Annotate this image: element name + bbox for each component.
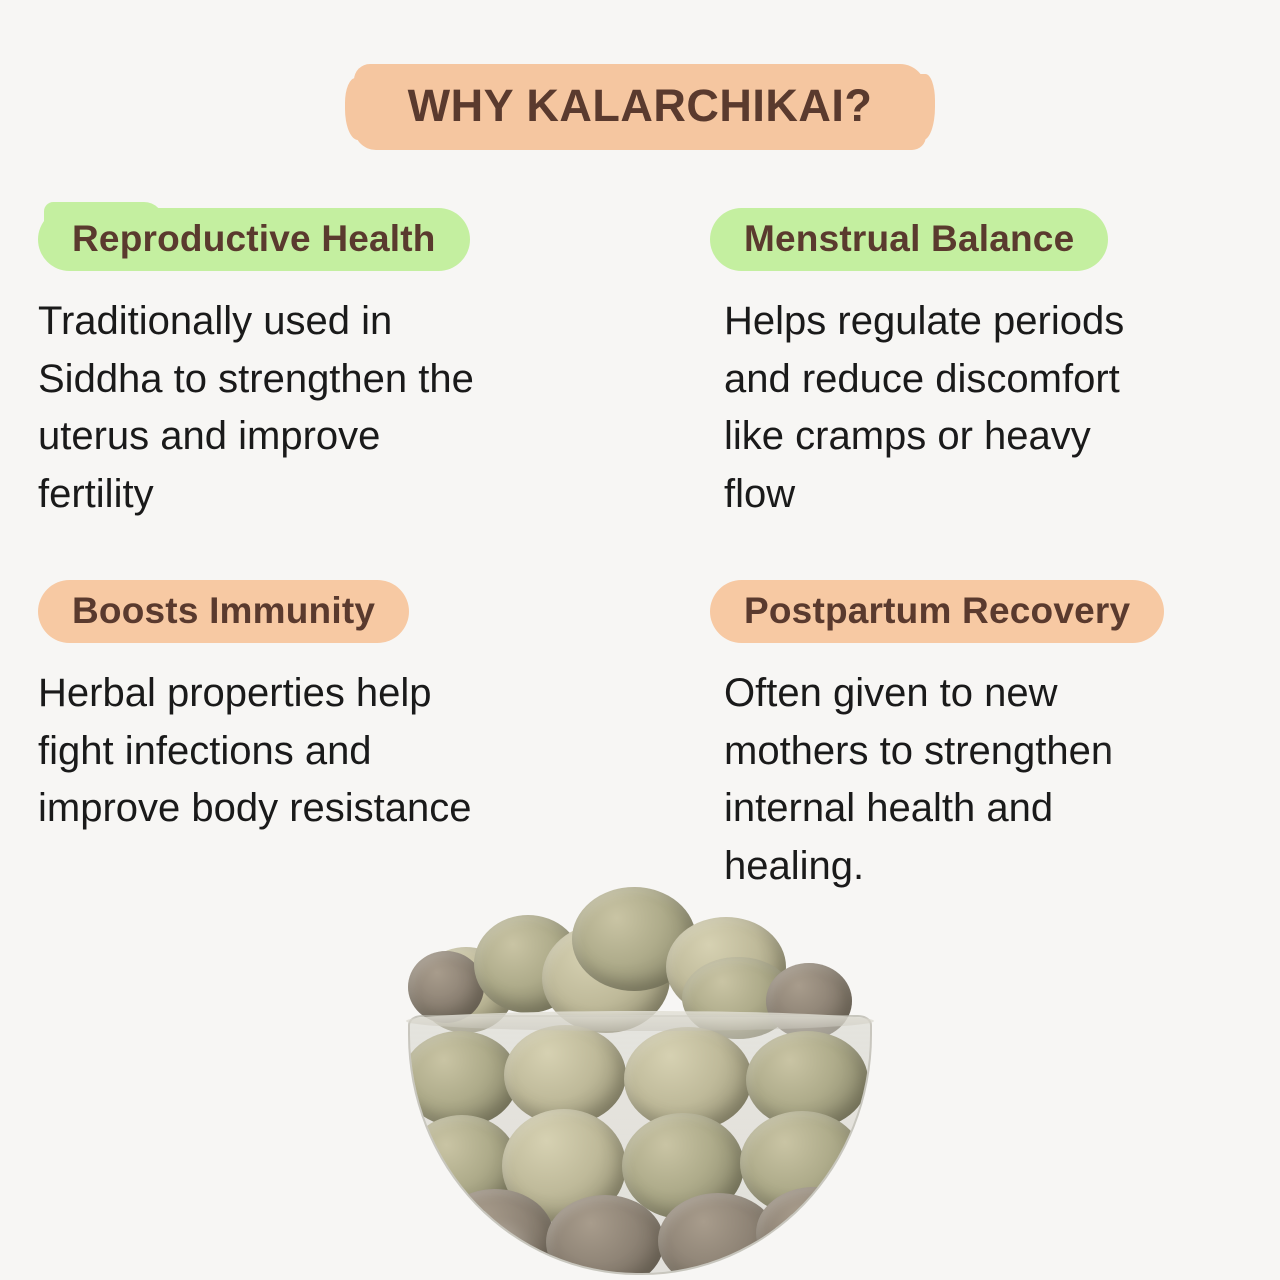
benefit-pill-reproductive-health: Reproductive Health xyxy=(38,208,470,271)
glass-bowl xyxy=(408,1015,872,1275)
bowl-rim xyxy=(406,1011,874,1031)
benefit-label: Postpartum Recovery xyxy=(744,590,1130,631)
infographic-poster: WHY KALARCHIKAI? Reproductive Health Tra… xyxy=(0,0,1280,1280)
benefit-block-boosts-immunity: Boosts Immunity Herbal properties help f… xyxy=(38,580,598,838)
benefit-label: Reproductive Health xyxy=(72,218,436,259)
title-highlight: WHY KALARCHIKAI? xyxy=(354,64,927,150)
benefit-description: Often given to new mothers to strengthen… xyxy=(710,665,1180,895)
benefit-description: Helps regulate periods and reduce discom… xyxy=(710,293,1190,523)
benefit-label: Boosts Immunity xyxy=(72,590,375,631)
benefit-description: Traditionally used in Siddha to strength… xyxy=(38,293,550,523)
benefit-block-postpartum-recovery: Postpartum Recovery Often given to new m… xyxy=(710,580,1258,895)
product-photo-kalarchikai-bowl xyxy=(390,885,890,1280)
seed xyxy=(756,1187,872,1275)
title-banner: WHY KALARCHIKAI? xyxy=(0,64,1280,150)
benefit-pill-menstrual-balance: Menstrual Balance xyxy=(710,208,1108,271)
benefit-block-reproductive-health: Reproductive Health Traditionally used i… xyxy=(38,208,598,523)
benefit-pill-postpartum-recovery: Postpartum Recovery xyxy=(710,580,1164,643)
benefit-label: Menstrual Balance xyxy=(744,218,1074,259)
seed xyxy=(408,951,484,1023)
benefit-description: Herbal properties help fight infections … xyxy=(38,665,550,838)
page-title: WHY KALARCHIKAI? xyxy=(408,80,873,132)
seed xyxy=(408,1031,518,1127)
benefit-block-menstrual-balance: Menstrual Balance Helps regulate periods… xyxy=(710,208,1258,523)
benefit-pill-boosts-immunity: Boosts Immunity xyxy=(38,580,409,643)
